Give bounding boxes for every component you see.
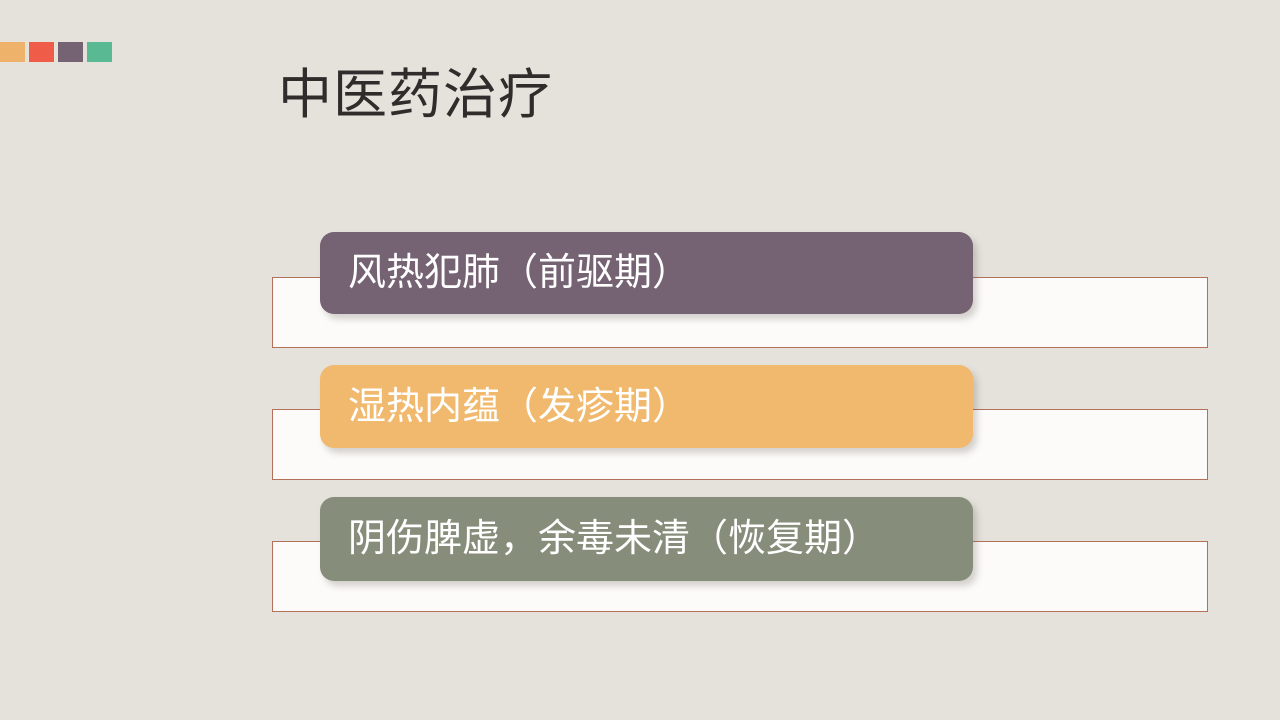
stage-chip-label-2: 湿热内蕴（发疹期） xyxy=(320,385,690,429)
stage-list: 风热犯肺（前驱期） 湿热内蕴（发疹期） 阴伤脾虚，余毒未清（恢复期） xyxy=(0,0,1280,720)
stage-chip-1[interactable]: 风热犯肺（前驱期） xyxy=(320,232,973,314)
stage-chip-3[interactable]: 阴伤脾虚，余毒未清（恢复期） xyxy=(320,497,973,581)
stage-chip-label-3: 阴伤脾虚，余毒未清（恢复期） xyxy=(320,517,880,561)
stage-chip-2[interactable]: 湿热内蕴（发疹期） xyxy=(320,365,973,448)
slide-canvas: 中医药治疗 风热犯肺（前驱期） 湿热内蕴（发疹期） 阴伤脾虚，余毒未清（恢复期） xyxy=(0,0,1280,720)
stage-chip-label-1: 风热犯肺（前驱期） xyxy=(320,251,690,295)
